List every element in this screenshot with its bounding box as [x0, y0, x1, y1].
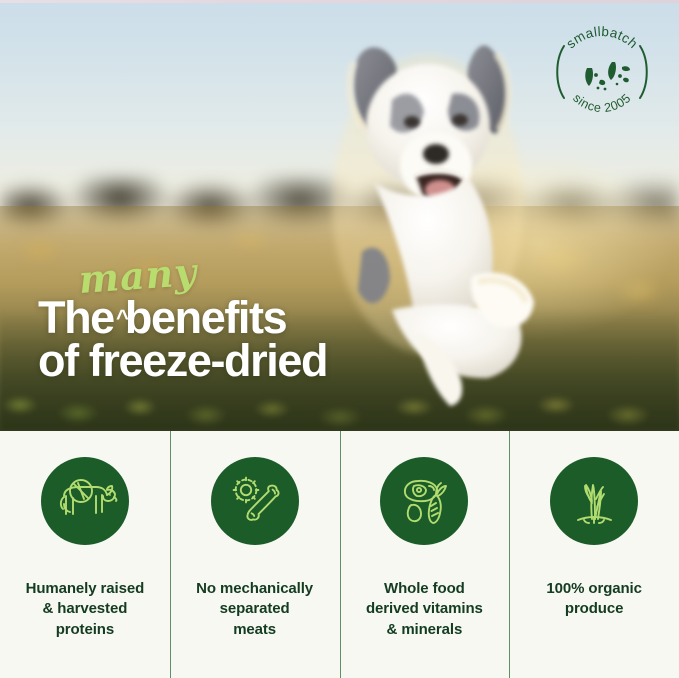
benefit-column-2: No mechanically separated meats — [170, 431, 340, 678]
headline-line-2: of freeze-dried — [38, 338, 508, 383]
benefit-label-2: No mechanically separated meats — [180, 579, 330, 640]
logo-top-arc-text: smallbatch — [563, 24, 641, 52]
headline-insertion-caret: ^ — [116, 307, 129, 329]
benefit-2-line-2: separated — [220, 600, 290, 617]
logo-bottom-arc-text: since 2005 — [570, 91, 633, 115]
advertisement-banner: smallbatch since 2005 — [0, 0, 679, 678]
benefit-1-line-2: & harvested — [42, 600, 127, 617]
smallbatch-logo[interactable]: smallbatch since 2005 — [548, 18, 656, 126]
benefit-4-line-2: produce — [565, 600, 623, 617]
benefit-label-3: Whole food derived vitamins & minerals — [349, 579, 499, 640]
top-edge-line — [0, 0, 679, 3]
benefit-column-3: Whole food derived vitamins & minerals — [340, 431, 510, 678]
benefit-2-line-1: No mechanically — [196, 580, 313, 597]
hero-photo: smallbatch since 2005 — [0, 0, 679, 431]
svg-text:since 2005: since 2005 — [570, 91, 633, 115]
benefit-2-line-3: meats — [233, 621, 276, 638]
cow-no-hormones-icon — [41, 457, 129, 545]
svg-text:smallbatch: smallbatch — [563, 24, 641, 52]
leafy-green-sprout-icon — [550, 457, 638, 545]
benefit-label-1: Humanely raised & harvested proteins — [10, 579, 160, 640]
steak-carrot-egg-icon — [380, 457, 468, 545]
benefit-column-4: 100% organic produce — [509, 431, 679, 678]
logo-pet-faces-mark — [585, 62, 630, 90]
benefit-4-line-1: 100% organic — [546, 580, 642, 597]
benefit-column-1: Humanely raised & harvested proteins — [0, 431, 170, 678]
benefit-1-line-1: Humanely raised — [26, 580, 145, 597]
benefit-label-4: 100% organic produce — [519, 579, 669, 620]
benefits-strip: Humanely raised & harvested proteins — [0, 431, 679, 678]
gear-and-bone-icon — [211, 457, 299, 545]
benefit-1-line-3: proteins — [56, 621, 114, 638]
hero-headline: many ^ The benefits of freeze-dried — [38, 263, 508, 383]
benefit-3-line-2: derived vitamins — [366, 600, 483, 617]
headline-line-1: The benefits — [38, 295, 508, 340]
benefit-3-line-1: Whole food — [384, 580, 465, 597]
benefit-3-line-3: & minerals — [387, 621, 463, 638]
